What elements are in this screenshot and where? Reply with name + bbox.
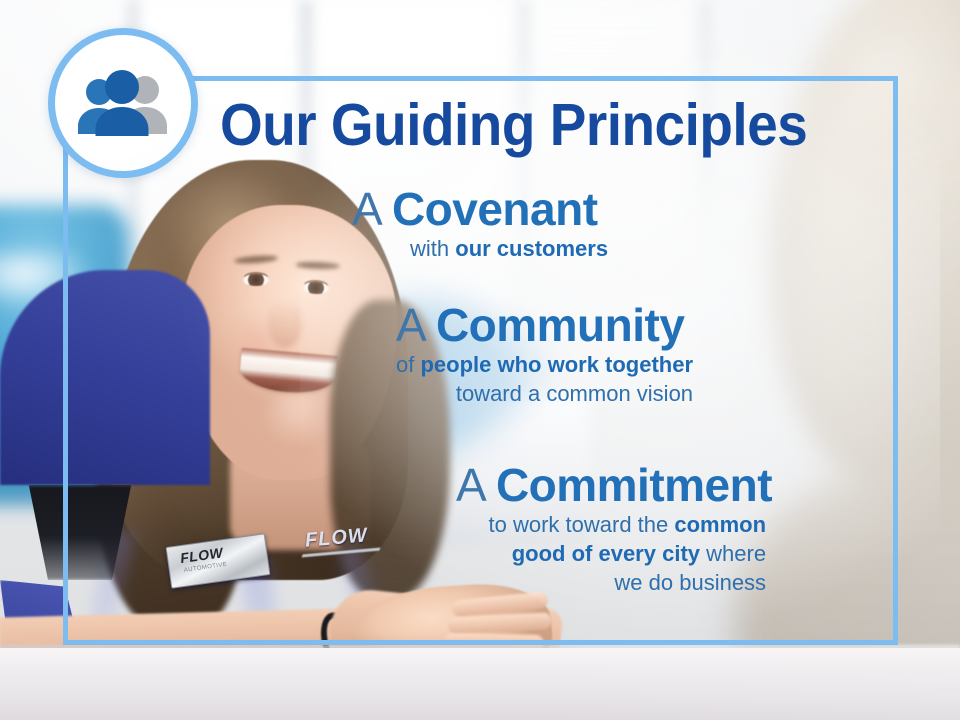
people-group-icon-badge: [48, 28, 198, 178]
principle-title: A Covenant: [352, 186, 608, 234]
principle-subtitle-plain: with: [410, 236, 455, 261]
principle-keyword: Commitment: [496, 459, 772, 511]
principle-block-community: A Community of people who work together …: [396, 302, 697, 408]
principle-subtitle: with our customers: [352, 234, 608, 263]
poster-canvas: FLOW FLOW AUTOMOTIVE: [0, 0, 960, 720]
principle-subtitle-line: we do business: [456, 568, 766, 597]
page-title: Our Guiding Principles: [220, 96, 807, 155]
principle-article: A: [456, 459, 484, 511]
principle-block-covenant: A Covenant with our customers: [352, 186, 608, 263]
desk-surface: [0, 648, 960, 720]
principle-subtitle: of people who work together toward a com…: [396, 350, 697, 408]
principle-subtitle-line: to work toward the common: [456, 510, 766, 539]
principle-subtitle-plain: of: [396, 352, 420, 377]
subject-nose: [268, 300, 302, 348]
principle-subtitle: to work toward the common good of every …: [456, 510, 772, 597]
principle-subtitle-plain: to work toward the: [489, 512, 675, 537]
people-group-icon: [71, 68, 175, 138]
principle-subtitle-line: of people who work together: [396, 350, 693, 379]
principle-block-commitment: A Commitment to work toward the common g…: [456, 462, 772, 597]
principle-subtitle-bold: people who work together: [420, 352, 693, 377]
principle-subtitle-line: good of every city where: [456, 539, 766, 568]
principle-title: A Commitment: [456, 462, 772, 510]
subject-eye: [243, 274, 269, 286]
principle-keyword: Covenant: [392, 183, 598, 235]
principle-subtitle-bold: our customers: [455, 236, 608, 261]
principle-article: A: [352, 183, 380, 235]
principle-keyword: Community: [436, 299, 685, 351]
subject-chin: [258, 392, 338, 448]
principle-subtitle-bold: good of every city: [512, 541, 700, 566]
principle-subtitle-line: toward a common vision: [396, 379, 693, 408]
principle-subtitle-plain: where: [700, 541, 766, 566]
principle-title: A Community: [396, 302, 697, 350]
subject-sleeve: [0, 270, 210, 485]
principle-subtitle-bold: common: [674, 512, 766, 537]
principle-article: A: [396, 299, 424, 351]
